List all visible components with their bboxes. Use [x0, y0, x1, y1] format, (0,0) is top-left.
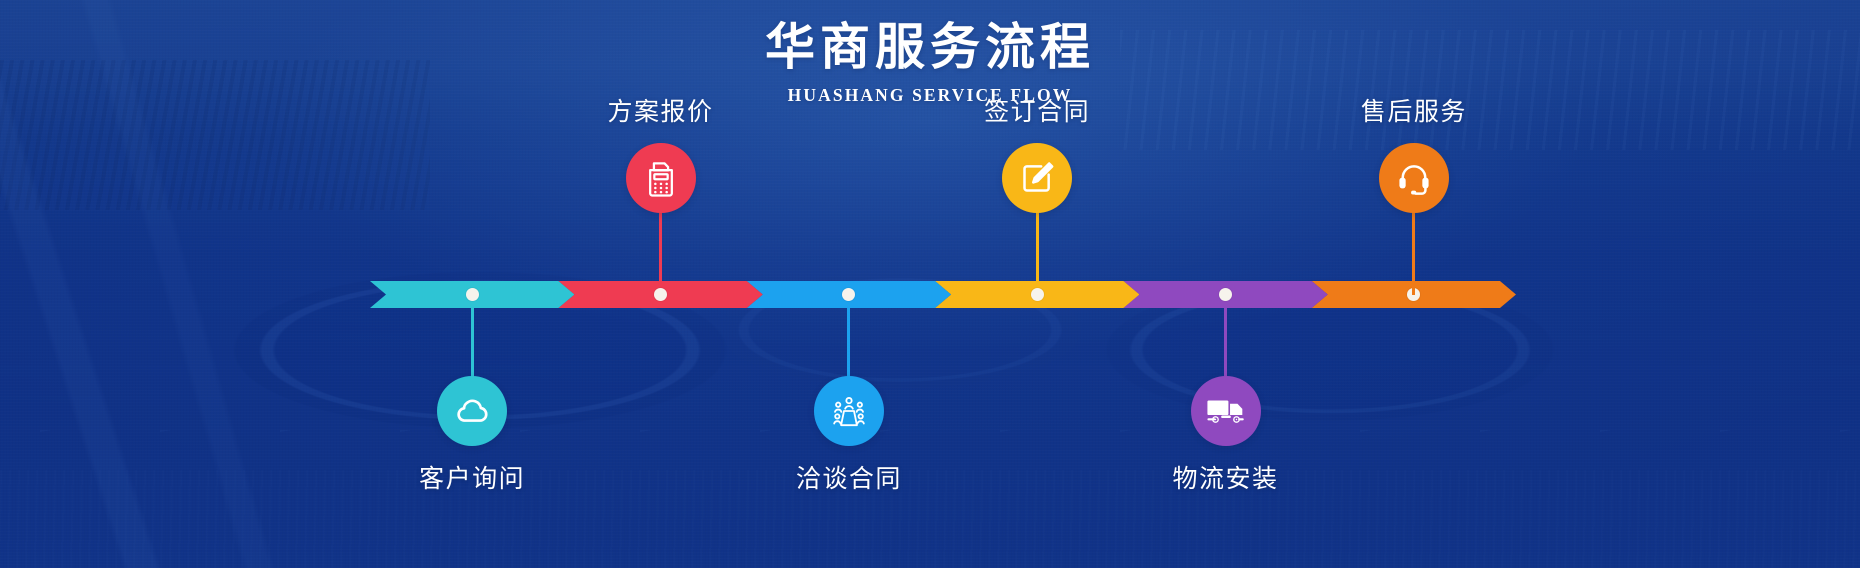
flow-step-label-1: 客户询问	[419, 459, 525, 495]
flow-step-5[interactable]: 物流安装	[1191, 376, 1261, 446]
flow-step-4[interactable]: 签订合同	[1002, 143, 1072, 213]
calculator-icon[interactable]	[626, 143, 696, 213]
flow-segment-2[interactable]	[558, 281, 762, 308]
headset-icon-glyph	[1394, 158, 1434, 198]
service-flow-diagram: 客户询问 方案报价 洽谈合同	[0, 0, 1860, 568]
flow-step-label-5: 物流安装	[1172, 459, 1278, 495]
service-flow-banner: 华商服务流程 HUASHANG SERVICE FLOW 客户询问 方案报价	[0, 0, 1860, 568]
flow-step-label-4: 签订合同	[984, 92, 1090, 128]
flow-step-2[interactable]: 方案报价	[626, 143, 696, 213]
pen-edit-icon-glyph	[1017, 158, 1057, 198]
truck-icon[interactable]	[1191, 376, 1261, 446]
truck-icon-glyph	[1205, 393, 1247, 429]
flow-step-label-2: 方案报价	[607, 92, 713, 128]
headset-icon[interactable]	[1379, 143, 1449, 213]
flow-step-label-6: 售后服务	[1361, 92, 1467, 128]
flow-segment-dot	[1219, 288, 1232, 301]
flow-segment-dot	[654, 288, 667, 301]
flow-segment-5[interactable]	[1123, 281, 1327, 308]
meeting-icon[interactable]	[814, 376, 884, 446]
flow-segment-4[interactable]	[935, 281, 1139, 308]
flow-segment-1[interactable]	[370, 281, 574, 308]
flow-segment-3[interactable]	[747, 281, 951, 308]
flow-ribbon	[370, 281, 1500, 308]
flow-step-6[interactable]: 售后服务	[1379, 143, 1449, 213]
flow-step-1[interactable]: 客户询问	[437, 376, 507, 446]
meeting-icon-glyph	[829, 391, 869, 431]
cloud-icon-glyph	[452, 391, 492, 431]
flow-segment-dot	[1031, 288, 1044, 301]
flow-segment-dot	[466, 288, 479, 301]
flow-step-3[interactable]: 洽谈合同	[814, 376, 884, 446]
cloud-icon[interactable]	[437, 376, 507, 446]
flow-step-label-3: 洽谈合同	[796, 459, 902, 495]
pen-edit-icon[interactable]	[1002, 143, 1072, 213]
calculator-icon-glyph	[642, 158, 680, 198]
